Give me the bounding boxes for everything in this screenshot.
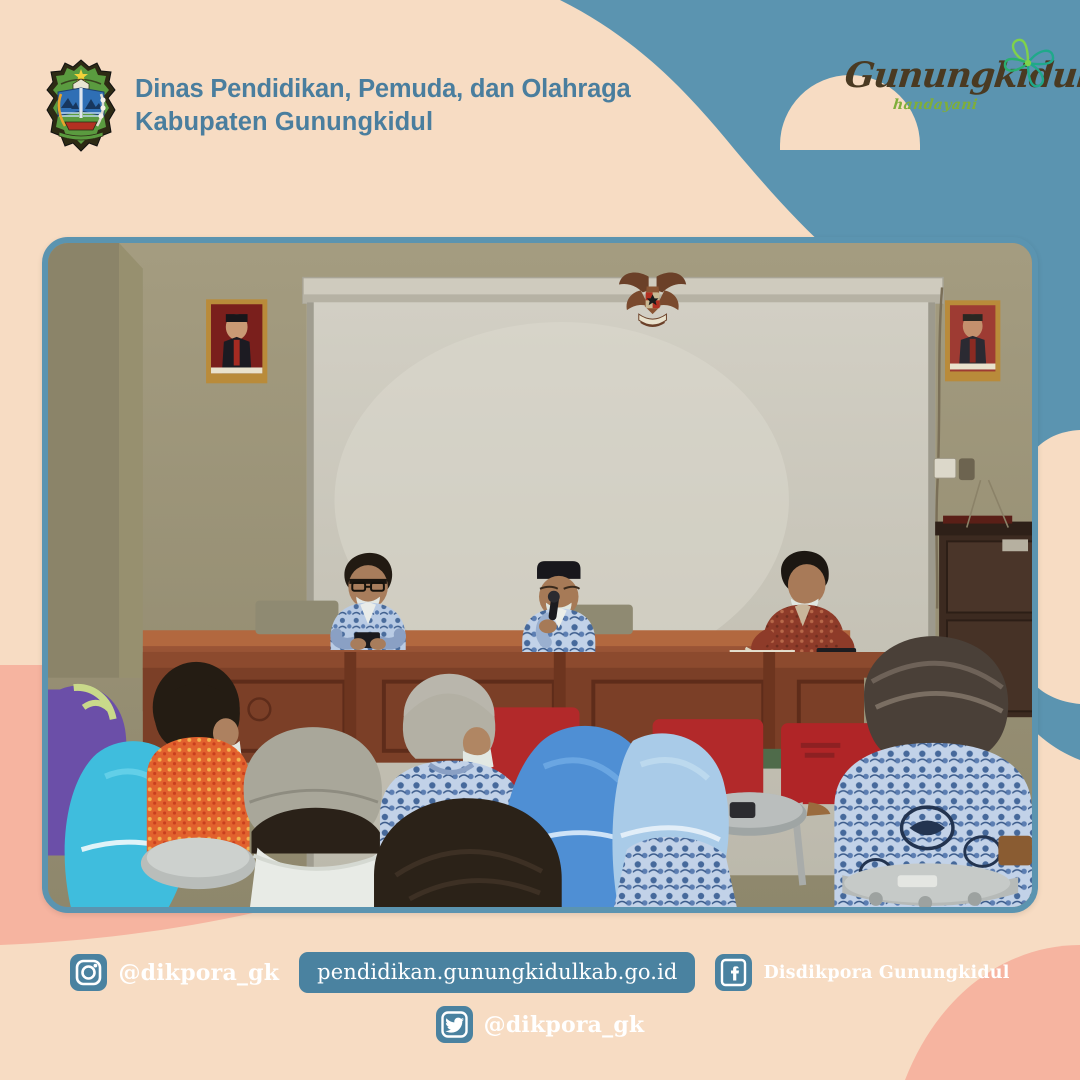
page-title: Dinas Pendidikan, Pemuda, dan Olahraga K…: [135, 73, 630, 139]
meeting-room-photograph: [42, 237, 1038, 913]
facebook-icon: [715, 954, 752, 991]
instagram-handle: @dikpora_gk: [118, 960, 279, 986]
header: Dinas Pendidikan, Pemuda, dan Olahraga K…: [45, 58, 630, 154]
ornamental-flourish-icon: [998, 33, 1058, 91]
gunungkidul-brand-logo: Gunungkidul handayani: [845, 33, 1060, 138]
facebook-link[interactable]: Disdikpora Gunungkidul: [715, 954, 1009, 991]
website-url-badge[interactable]: pendidikan.gunungkidulkab.go.id: [299, 952, 695, 993]
facebook-page-name: Disdikpora Gunungkidul: [763, 963, 1009, 983]
photo-content: [48, 243, 1032, 911]
instagram-link[interactable]: @dikpora_gk: [70, 954, 279, 991]
title-line-2: Kabupaten Gunungkidul: [135, 106, 630, 139]
footer-social-links: @dikpora_gk pendidikan.gunungkidulkab.go…: [0, 952, 1080, 1043]
twitter-icon: [436, 1006, 473, 1043]
twitter-handle: @dikpora_gk: [484, 1012, 645, 1038]
gunungkidul-regency-coat-of-arms: [45, 58, 117, 154]
gunungkidul-tagline: handayani: [892, 97, 978, 113]
vice-presidential-portrait: [945, 300, 1000, 381]
twitter-link[interactable]: @dikpora_gk: [436, 1006, 645, 1043]
instagram-icon: [70, 954, 107, 991]
attendee-grey-cap: [244, 727, 388, 911]
attendee-orange-batik: [141, 662, 256, 889]
presidential-portrait: [206, 299, 267, 383]
title-line-1: Dinas Pendidikan, Pemuda, dan Olahraga: [135, 73, 630, 106]
